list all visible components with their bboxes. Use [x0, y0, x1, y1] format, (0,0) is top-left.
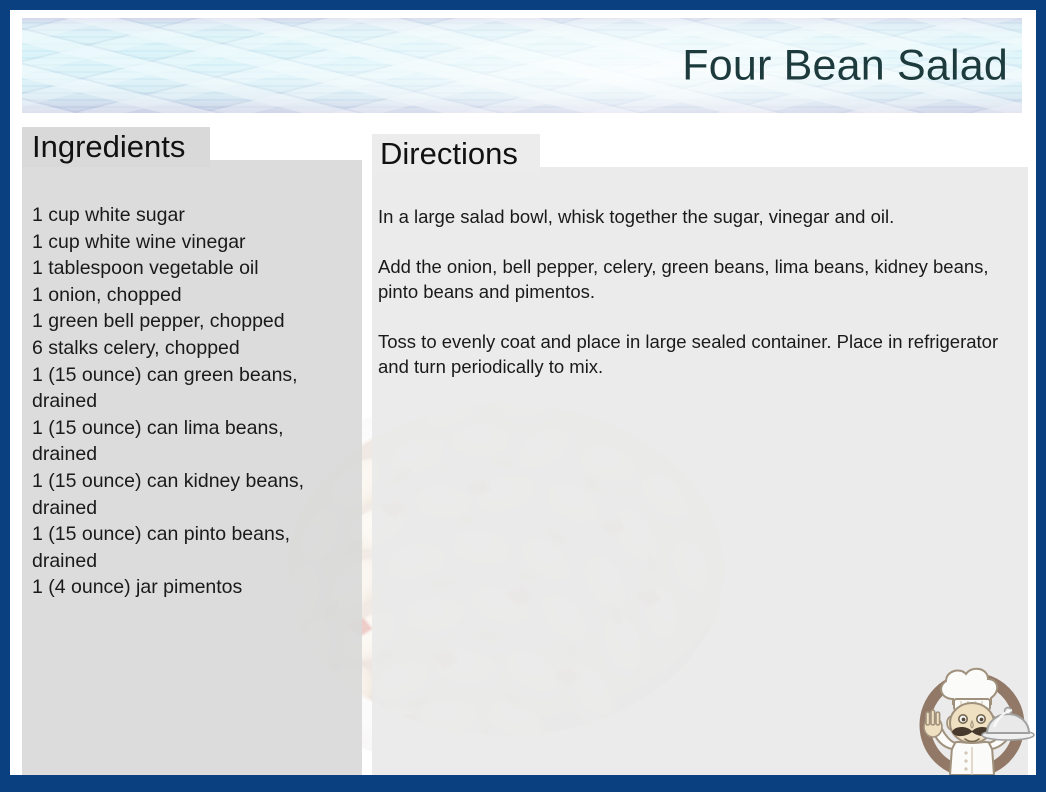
recipe-card-inner: Four Bean Salad: [10, 10, 1036, 775]
direction-step: Add the onion, bell pepper, celery, gree…: [378, 254, 1023, 304]
directions-tab-label: Directions: [380, 134, 518, 174]
ingredients-tab-label: Ingredients: [32, 127, 185, 167]
list-item: 1 onion, chopped: [32, 282, 348, 309]
direction-step: Toss to evenly coat and place in large s…: [378, 329, 1023, 379]
list-item: 1 (15 ounce) can kidney beans, drained: [32, 468, 348, 521]
header-banner: Four Bean Salad: [22, 18, 1022, 113]
recipe-card: Four Bean Salad: [0, 0, 1046, 792]
chef-mascot-logo: [908, 655, 1036, 775]
list-item: 1 cup white wine vinegar: [32, 229, 348, 256]
direction-step: In a large salad bowl, whisk together th…: [378, 204, 1023, 229]
page-title: Four Bean Salad: [682, 44, 1008, 87]
directions-tab: Directions: [372, 134, 540, 174]
list-item: 1 (15 ounce) can pinto beans, drained: [32, 521, 348, 574]
ingredients-tab: Ingredients: [22, 127, 210, 167]
list-item: 1 (4 ounce) jar pimentos: [32, 574, 348, 601]
list-item: 1 (15 ounce) can green beans, drained: [32, 362, 348, 415]
list-item: 6 stalks celery, chopped: [32, 335, 348, 362]
directions-steps: In a large salad bowl, whisk together th…: [378, 204, 1023, 379]
list-item: 1 tablespoon vegetable oil: [32, 255, 348, 282]
list-item: 1 cup white sugar: [32, 202, 348, 229]
list-item: 1 green bell pepper, chopped: [32, 308, 348, 335]
ingredients-list: 1 cup white sugar 1 cup white wine vineg…: [32, 202, 348, 601]
list-item: 1 (15 ounce) can lima beans, drained: [32, 415, 348, 468]
